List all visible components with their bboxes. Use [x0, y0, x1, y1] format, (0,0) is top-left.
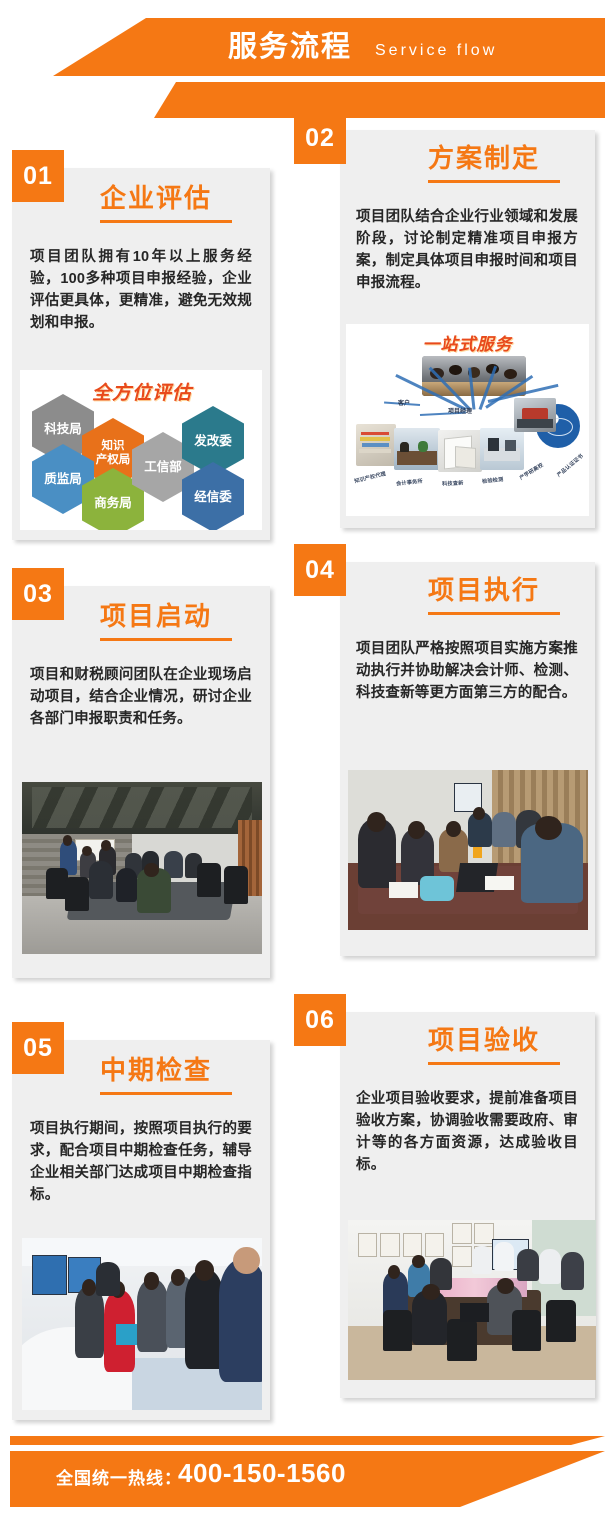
card-title-rule-04 — [428, 612, 560, 615]
one-stop-node-label-4: 检验检测 — [482, 476, 504, 485]
card-title-02: 方案制定 — [428, 142, 540, 174]
page-title: 服务流程 — [228, 26, 352, 68]
footer-accent-stripe — [10, 1436, 605, 1445]
step-card-03: 项目启动 项目和财税顾问团队在企业现场启动项目，结合企业情况，研讨企业各部门申报… — [12, 586, 270, 978]
step-card-01: 企业评估 项目团队拥有10年以上服务经验，100多种项目申报经验，企业评估更具体… — [12, 168, 270, 540]
step-card-02: 方案制定 项目团队结合企业行业领域和发展阶段，讨论制定精准项目申报方案，制定具体… — [340, 130, 595, 528]
one-stop-node-image-3 — [438, 430, 482, 472]
photo-acceptance-conference — [348, 1220, 596, 1380]
card-body-01: 项目团队拥有10年以上服务经验，100多种项目申报经验，企业评估更具体，更精准，… — [30, 246, 252, 334]
hexagon-chart-heading: 全方位评估 — [92, 378, 192, 405]
card-title-05: 中期检查 — [100, 1054, 212, 1086]
page-header: 服务流程 Service flow — [0, 0, 605, 118]
step-card-04: 项目执行 项目团队严格按照项目实施方案推动执行并协助解决会计师、检测、科技查新等… — [340, 562, 595, 956]
one-stop-node-label-3: 科技查新 — [442, 479, 464, 487]
hexagon-assessment-chart: 全方位评估 科技局 知识产权局 质监局 商务局 工信部 发改委 经信委 — [20, 370, 262, 530]
one-stop-client-label: 客户 — [398, 398, 410, 407]
card-title-06: 项目验收 — [428, 1024, 540, 1056]
one-stop-node-label-2: 会计事务所 — [396, 478, 424, 488]
card-body-03: 项目和财税顾问团队在企业现场启动项目，结合企业情况，研讨企业各部门申报职责和任务… — [30, 664, 252, 730]
step-badge-04: 04 — [294, 544, 346, 596]
card-body-06: 企业项目验收要求，提前准备项目验收方案，协调验收需要政府、审计等的各方面资源，达… — [356, 1088, 578, 1176]
one-stop-service-diagram: 一站式服务 客户 项目经理 — [346, 324, 589, 516]
card-body-05: 项目执行期间，按照项目执行的要求，配合项目中期检查任务，辅导企业相关部门达成项目… — [30, 1118, 252, 1206]
card-title-01: 企业评估 — [100, 182, 212, 214]
card-title-rule-03 — [100, 638, 232, 641]
page-footer: 全国统一热线： 400-150-1560 — [0, 1420, 605, 1538]
one-stop-node-label-1: 知识产权代理 — [354, 470, 387, 485]
step-card-06: 项目验收 企业项目验收要求，提前准备项目验收方案，协调验收需要政府、审计等的各方… — [340, 1012, 595, 1398]
card-title-rule-06 — [428, 1062, 560, 1065]
card-title-rule-01 — [100, 220, 232, 223]
step-card-05: 中期检查 项目执行期间，按照项目执行的要求，配合项目中期检查任务，辅导企业相关部… — [12, 1040, 270, 1420]
step-badge-02: 02 — [294, 112, 346, 164]
one-stop-node-label-6: 产品认证证书 — [556, 452, 585, 478]
step-badge-05: 05 — [12, 1022, 64, 1074]
step-badge-01: 01 — [12, 150, 64, 202]
card-title-rule-05 — [100, 1092, 232, 1095]
one-stop-node-image-1 — [356, 424, 396, 466]
card-title-rule-02 — [428, 180, 560, 183]
one-stop-node-image-4 — [480, 428, 524, 470]
card-body-04: 项目团队严格按照项目实施方案推动执行并协助解决会计师、检测、科技查新等更方面第三… — [356, 638, 578, 704]
step-badge-03: 03 — [12, 568, 64, 620]
page-subtitle: Service flow — [375, 36, 497, 66]
card-title-03: 项目启动 — [100, 600, 212, 632]
hotline-label: 全国统一热线： — [56, 1464, 182, 1489]
one-stop-node-image-2 — [394, 428, 440, 470]
one-stop-node-image-5 — [514, 398, 556, 432]
card-body-02: 项目团队结合企业行业领域和发展阶段，讨论制定精准项目申报方案，制定具体项目申报时… — [356, 206, 578, 294]
photo-onsite-inspection — [22, 1238, 262, 1410]
hotline-number: 400-150-1560 — [178, 1458, 346, 1489]
photo-team-working-meeting — [348, 770, 588, 930]
card-title-04: 项目执行 — [428, 574, 540, 606]
step-badge-06: 06 — [294, 994, 346, 1046]
photo-boardroom-kickoff — [22, 782, 262, 954]
one-stop-hub-label: 项目经理 — [448, 406, 472, 415]
one-stop-title: 一站式服务 — [346, 330, 589, 355]
